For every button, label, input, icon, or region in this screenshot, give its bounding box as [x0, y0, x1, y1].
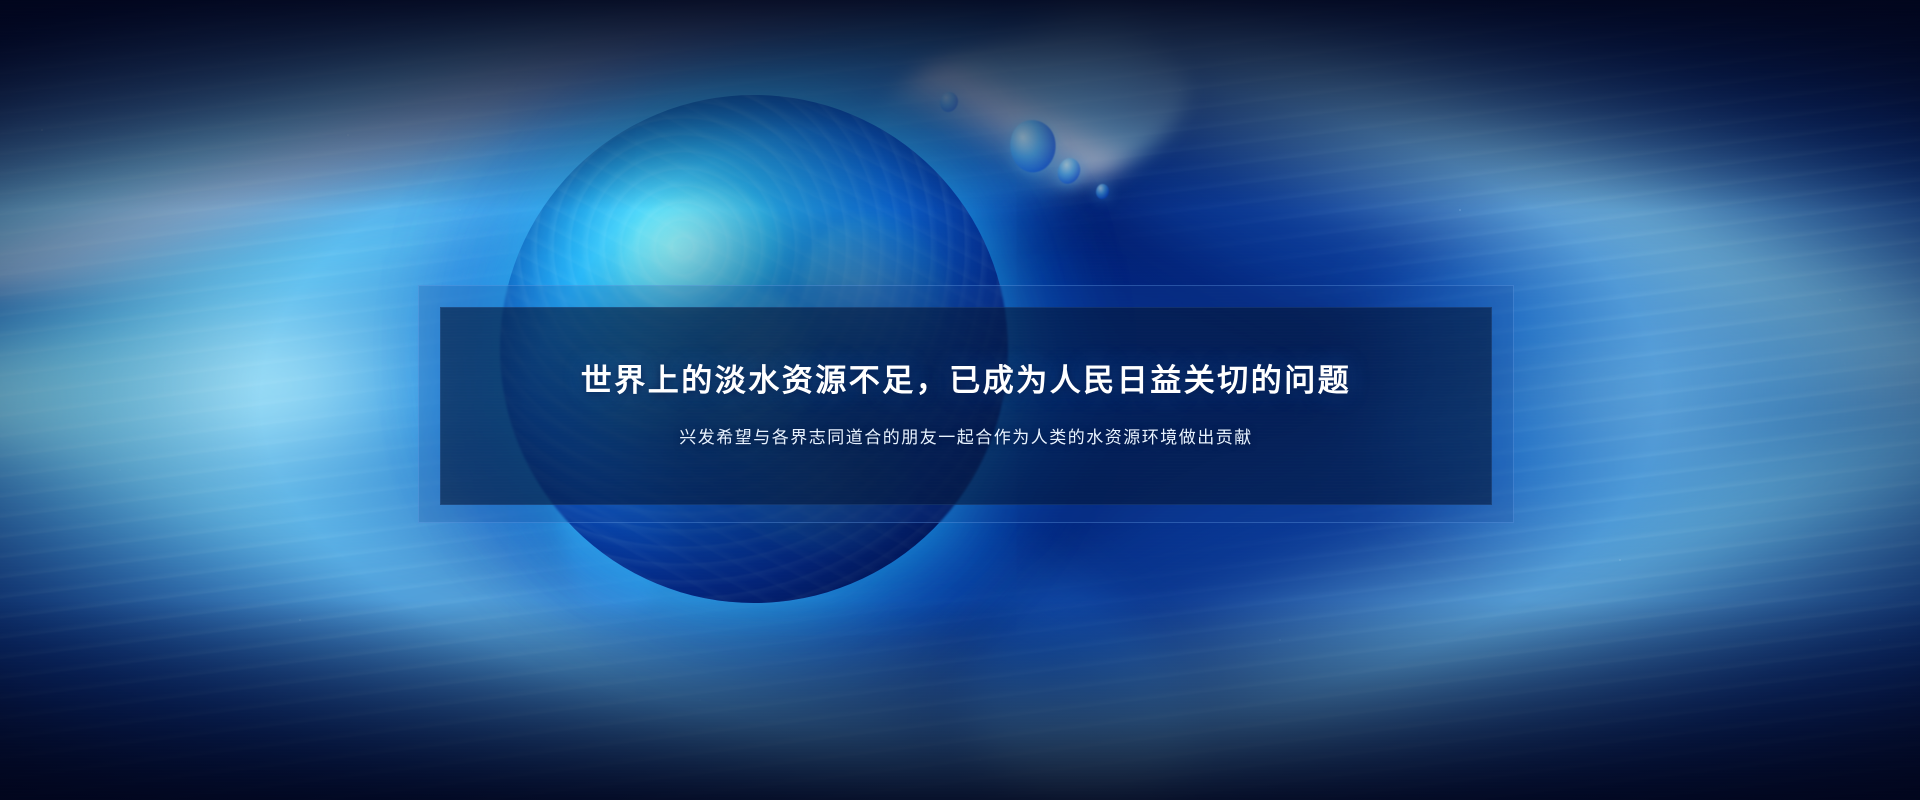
text-panel: 世界上的淡水资源不足，已成为人民日益关切的问题 兴发希望与各界志同道合的朋友一起… — [440, 307, 1492, 505]
banner-headline: 世界上的淡水资源不足，已成为人民日益关切的问题 — [581, 362, 1352, 401]
banner-subheadline: 兴发希望与各界志同道合的朋友一起合作为人类的水资源环境做出贡献 — [679, 426, 1253, 450]
banner-hero: 世界上的淡水资源不足，已成为人民日益关切的问题 兴发希望与各界志同道合的朋友一起… — [0, 0, 1920, 800]
